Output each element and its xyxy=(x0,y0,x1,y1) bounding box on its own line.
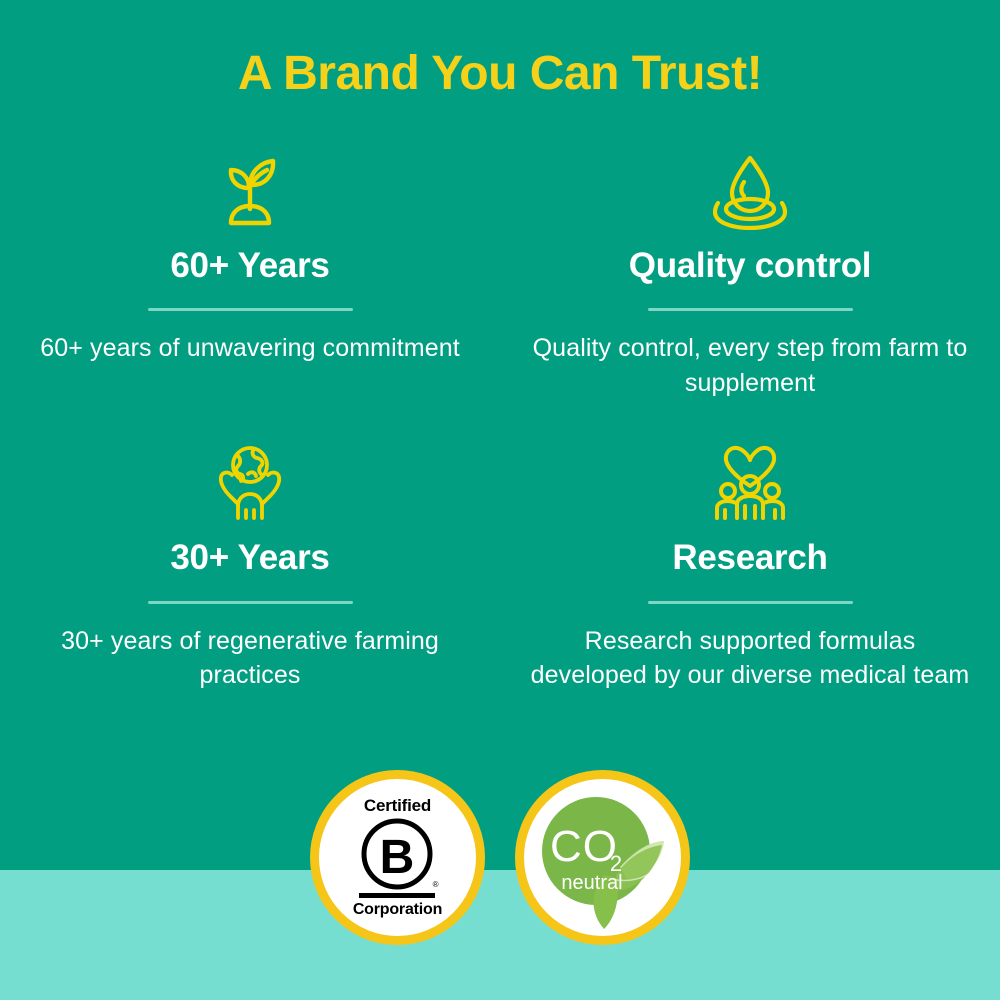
svg-text:B: B xyxy=(380,831,415,884)
feature-description: Research supported formulas developed by… xyxy=(528,624,972,693)
b-corp-certified-label: Certified xyxy=(364,797,431,814)
feature-title: Research xyxy=(528,538,972,578)
page-title: A Brand You Can Trust! xyxy=(0,46,1000,101)
b-corp-corporation-label: Corporation xyxy=(353,902,442,918)
feature-card-quality-control: Quality control Quality control, every s… xyxy=(500,150,1000,400)
co2-neutral-badge: CO 2 neutral xyxy=(515,770,690,945)
features-row-2: 30+ Years 30+ years of regenerative farm… xyxy=(0,442,1000,692)
feature-card-years-30: 30+ Years 30+ years of regenerative farm… xyxy=(0,442,500,692)
svg-text:neutral: neutral xyxy=(561,872,622,894)
feature-description: 60+ years of unwavering commitment xyxy=(28,331,472,366)
feature-title: Quality control xyxy=(528,246,972,286)
features-grid: 60+ Years 60+ years of unwavering commit… xyxy=(0,150,1000,693)
feature-divider xyxy=(148,308,353,311)
b-corp-mark: Certified B ® Corporation xyxy=(353,797,442,918)
registered-trademark-icon: ® xyxy=(433,881,439,889)
feature-title: 30+ Years xyxy=(28,538,472,578)
b-corp-circle-b-icon: B ® xyxy=(360,817,434,891)
b-corp-rule xyxy=(359,893,435,898)
feature-divider xyxy=(648,601,853,604)
features-row-1: 60+ Years 60+ years of unwavering commit… xyxy=(0,150,1000,400)
feature-card-years-60: 60+ Years 60+ years of unwavering commit… xyxy=(0,150,500,400)
certification-badges: Certified B ® Corporation xyxy=(0,770,1000,945)
feature-divider xyxy=(648,308,853,311)
svg-text:CO: CO xyxy=(550,822,618,871)
feature-description: 30+ years of regenerative farming practi… xyxy=(28,624,472,693)
heart-people-icon xyxy=(528,442,972,522)
sprout-icon xyxy=(28,150,472,230)
co2-neutral-mark: CO 2 neutral xyxy=(524,779,681,936)
feature-divider xyxy=(148,601,353,604)
feature-title: 60+ Years xyxy=(28,246,472,286)
feature-card-research: Research Research supported formulas dev… xyxy=(500,442,1000,692)
trust-badges-poster: A Brand You Can Trust! 60+ Years 60+ yea… xyxy=(0,0,1000,1000)
feature-description: Quality control, every step from farm to… xyxy=(528,331,972,400)
hands-holding-globe-icon xyxy=(28,442,472,522)
b-corp-badge: Certified B ® Corporation xyxy=(310,770,485,945)
water-droplet-icon xyxy=(528,150,972,230)
